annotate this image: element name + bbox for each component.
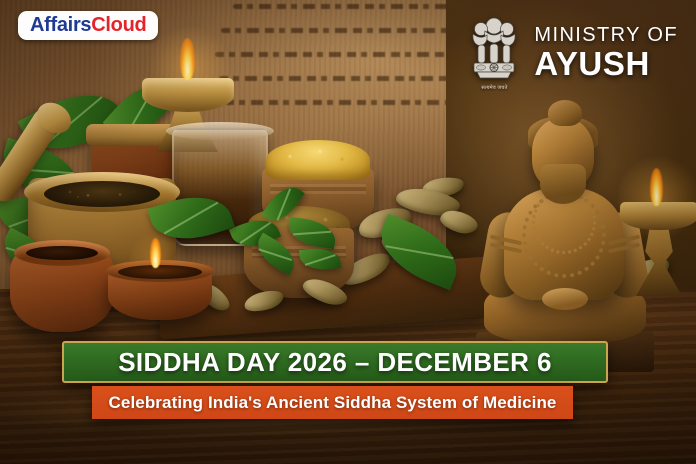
- brass-oil-lamp-bowl: [142, 78, 234, 112]
- statue-meditation-hands: [542, 288, 588, 310]
- diya-flame: [150, 238, 161, 268]
- mortar-seeds: [52, 183, 152, 203]
- emblem-motto: सत्यमेव जयते: [466, 85, 522, 91]
- headline-text: SIDDHA DAY 2026 – DECEMBER 6: [118, 347, 552, 378]
- tulsi-leaf: [299, 246, 341, 272]
- statue-top-knot: [548, 100, 582, 126]
- ashoka-lion-capital-emblem-icon: सत्यमेव जयते: [466, 14, 522, 90]
- affairscloud-logo[interactable]: AffairsCloud: [18, 11, 158, 40]
- statue-beard: [540, 164, 586, 204]
- ministry-wordmark: MINISTRY OF AYUSH: [534, 25, 678, 80]
- tulsi-leaf: [251, 233, 301, 276]
- siddha-day-banner-image: AffairsCloud: [0, 0, 696, 464]
- lamp-flame: [180, 38, 195, 80]
- brass-lamp-bowl-right: [620, 202, 696, 230]
- tulsi-sprig: [232, 186, 352, 276]
- clay-pot-liquid: [26, 246, 98, 260]
- clay-diya-oil: [118, 265, 202, 279]
- ministry-line-2: AYUSH: [534, 47, 678, 80]
- logo-text-affairs: Affairs: [30, 15, 91, 35]
- ministry-of-ayush-lockup: सत्यमेव जयते MINISTRY OF AYUSH: [466, 14, 678, 90]
- subheadline-text: Celebrating India's Ancient Siddha Syste…: [109, 393, 557, 413]
- glass-jar-rim: [166, 122, 274, 140]
- subheadline-banner: Celebrating India's Ancient Siddha Syste…: [92, 386, 573, 419]
- turmeric-powder-heap: [266, 140, 370, 180]
- headline-banner: SIDDHA DAY 2026 – DECEMBER 6: [62, 341, 608, 383]
- ministry-line-1: MINISTRY OF: [534, 25, 678, 45]
- logo-text-cloud: Cloud: [91, 15, 146, 35]
- lamp-flame: [650, 168, 663, 206]
- tulsi-leaf: [286, 217, 337, 249]
